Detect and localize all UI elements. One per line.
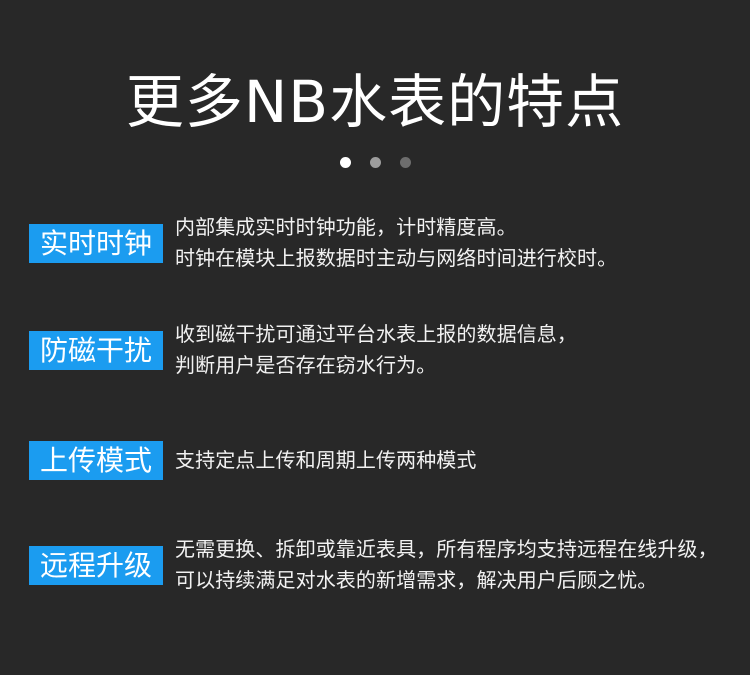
feature-badge: 上传模式 (29, 441, 163, 480)
page-title: 更多NB水表的特点 (0, 66, 750, 138)
feature-badge: 实时时钟 (29, 224, 163, 263)
pagination-dot-3[interactable] (400, 157, 411, 168)
promo-page: 更多NB水表的特点 实时时钟 内部集成实时时钟功能，计时精度高。 时钟在模块上报… (0, 0, 750, 675)
feature-description-line: 可以持续满足对水表的新增需求，解决用户后顾之忧。 (175, 565, 735, 596)
feature-description-line: 无需更换、拆卸或靠近表具，所有程序均支持远程在线升级， (175, 534, 735, 565)
pagination-dots[interactable] (0, 157, 750, 168)
pagination-dot-2[interactable] (370, 157, 381, 168)
feature-description-line: 内部集成实时时钟功能，计时精度高。 (175, 212, 735, 243)
pagination-dot-1[interactable] (340, 157, 351, 168)
feature-description: 内部集成实时时钟功能，计时精度高。 时钟在模块上报数据时主动与网络时间进行校时。 (175, 212, 735, 274)
feature-description-line: 收到磁干扰可通过平台水表上报的数据信息， (175, 319, 735, 350)
page-header: 更多NB水表的特点 (0, 0, 750, 195)
feature-description-line: 判断用户是否存在窃水行为。 (175, 350, 735, 381)
feature-description: 支持定点上传和周期上传两种模式 (175, 445, 735, 476)
feature-description-line: 支持定点上传和周期上传两种模式 (175, 445, 735, 476)
feature-description-line: 时钟在模块上报数据时主动与网络时间进行校时。 (175, 243, 735, 274)
feature-description: 收到磁干扰可通过平台水表上报的数据信息， 判断用户是否存在窃水行为。 (175, 319, 735, 381)
feature-badge: 远程升级 (29, 546, 163, 585)
feature-badge: 防磁干扰 (29, 331, 163, 370)
feature-description: 无需更换、拆卸或靠近表具，所有程序均支持远程在线升级， 可以持续满足对水表的新增… (175, 534, 735, 596)
